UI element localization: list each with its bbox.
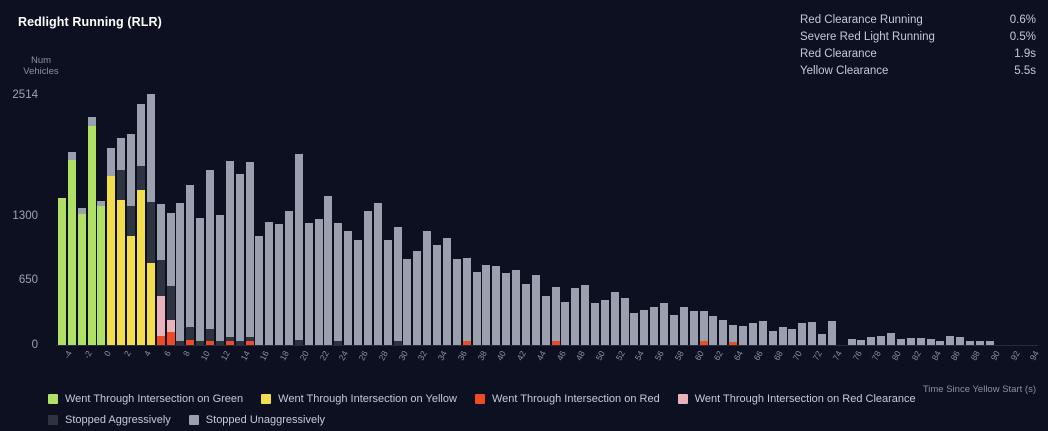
bar-column[interactable] [265, 222, 273, 345]
legend-item-red_clearance[interactable]: Went Through Intersection on Red Clearan… [678, 393, 916, 405]
bar-column[interactable] [512, 270, 520, 345]
bar-column[interactable] [611, 292, 619, 345]
x-axis-tick-label: 76 [850, 349, 863, 362]
x-axis-tick-label: 16 [258, 349, 271, 362]
x-axis-tick-label: 4 [142, 349, 153, 358]
bar-segment [759, 321, 767, 345]
x-axis-tick-label: 26 [357, 349, 370, 362]
bar-segment [354, 240, 362, 345]
bar-segment [403, 259, 411, 345]
bar-segment [176, 203, 184, 341]
bar-column[interactable] [305, 223, 313, 345]
legend-row-primary: Went Through Intersection on GreenWent T… [48, 388, 938, 409]
bar-column[interactable] [522, 284, 530, 345]
bar-column[interactable] [700, 311, 708, 345]
bar-column[interactable] [344, 231, 352, 345]
bar-segment [956, 337, 964, 345]
bar-column[interactable] [640, 310, 648, 345]
bar-segment [334, 223, 342, 340]
legend-item-stopped_unagg[interactable]: Stopped Unaggressively [189, 414, 325, 426]
bar-segment [552, 287, 560, 341]
bar-column[interactable] [196, 218, 204, 345]
bar-column[interactable] [581, 285, 589, 345]
chart-legend: Went Through Intersection on GreenWent T… [48, 388, 938, 430]
x-axis-tick-label: 0 [102, 349, 113, 358]
bar-segment [167, 320, 175, 332]
bar-segment [255, 236, 263, 345]
bar-segment [739, 326, 747, 345]
legend-swatch-icon [48, 394, 58, 404]
bar-segment [117, 138, 125, 170]
bar-segment [601, 300, 609, 345]
bar-column[interactable] [275, 224, 283, 345]
bar-segment [473, 272, 481, 345]
bar-column[interactable] [779, 327, 787, 345]
bar-column[interactable] [473, 272, 481, 345]
bar-segment [749, 323, 757, 345]
bar-segment [265, 222, 273, 345]
bar-segment [492, 266, 500, 345]
bar-column[interactable] [907, 338, 915, 345]
x-axis-tick-label: 22 [317, 349, 330, 362]
x-axis-tick-label: 18 [278, 349, 291, 362]
x-axis-tick-label: 70 [791, 349, 804, 362]
bar-segment [186, 185, 194, 327]
bar-segment [305, 223, 313, 345]
bar-column[interactable] [157, 204, 165, 345]
bar-segment [798, 323, 806, 345]
bar-segment [561, 302, 569, 345]
bar-column[interactable] [186, 185, 194, 345]
bar-column[interactable] [374, 203, 382, 345]
bar-column[interactable] [788, 329, 796, 345]
legend-item-green[interactable]: Went Through Intersection on Green [48, 393, 243, 405]
bar-segment [246, 162, 254, 337]
bar-segment [384, 240, 392, 345]
x-axis-tick-label: 50 [594, 349, 607, 362]
legend-item-yellow[interactable]: Went Through Intersection on Yellow [261, 393, 457, 405]
bar-segment [788, 329, 796, 345]
x-axis-tick-label: 40 [495, 349, 508, 362]
bar-segment [157, 296, 165, 336]
bar-segment [640, 310, 648, 345]
bar-segment [127, 206, 135, 236]
bar-segment [482, 265, 490, 345]
bar-segment [324, 196, 332, 345]
x-axis-tick-label: 80 [890, 349, 903, 362]
x-axis-tick-label: 48 [574, 349, 587, 362]
bar-segment [818, 334, 826, 345]
x-axis-tick-label: 60 [692, 349, 705, 362]
legend-item-label: Went Through Intersection on Red [492, 393, 660, 405]
bar-segment [729, 325, 737, 342]
bar-column[interactable] [246, 162, 254, 345]
bar-column[interactable] [315, 219, 323, 345]
bar-segment [186, 327, 194, 340]
x-axis-tick-label: 92 [1008, 349, 1021, 362]
x-axis-tick-label: 14 [238, 349, 251, 362]
legend-swatch-icon [48, 415, 58, 425]
bar-segment [58, 198, 66, 345]
bar-column[interactable] [206, 170, 214, 345]
x-axis-tick-label: 44 [534, 349, 547, 362]
bar-column[interactable] [621, 298, 629, 345]
bar-segment [779, 327, 787, 345]
x-axis-tick-label: 36 [455, 349, 468, 362]
bar-segment [167, 213, 175, 287]
bar-segment [88, 117, 96, 126]
x-axis-tick-label: 56 [653, 349, 666, 362]
legend-item-label: Stopped Unaggressively [206, 414, 325, 426]
legend-item-stopped_agg[interactable]: Stopped Aggressively [48, 414, 171, 426]
x-axis-tick-label: 64 [732, 349, 745, 362]
x-axis-tick-label: 88 [969, 349, 982, 362]
bar-column[interactable] [216, 215, 224, 345]
x-axis-tick-label: 6 [161, 349, 172, 358]
bar-segment [216, 215, 224, 341]
bar-segment [127, 134, 135, 206]
legend-item-red[interactable]: Went Through Intersection on Red [475, 393, 660, 405]
bar-column[interactable] [542, 296, 550, 345]
bar-column[interactable] [690, 311, 698, 345]
legend-swatch-icon [261, 394, 271, 404]
legend-item-label: Stopped Aggressively [65, 414, 171, 426]
y-axis-tick-label: 650 [0, 274, 38, 286]
bar-column[interactable] [236, 174, 244, 345]
bar-segment [157, 260, 165, 296]
x-axis-tick-label: 86 [949, 349, 962, 362]
bar-column[interactable] [749, 323, 757, 345]
bar-column[interactable] [591, 303, 599, 345]
bar-segment [907, 338, 915, 345]
bar-column[interactable] [719, 320, 727, 345]
bar-segment [522, 284, 530, 345]
bar-column[interactable] [571, 288, 579, 345]
y-axis-tick-label: 0 [0, 339, 38, 351]
x-axis-tick-label: -2 [81, 349, 93, 360]
bar-segment [808, 322, 816, 345]
x-axis-tick-label: 32 [416, 349, 429, 362]
bar-segment [88, 126, 96, 345]
bar-segment [512, 270, 520, 345]
bar-segment [206, 170, 214, 329]
bar-column[interactable] [601, 300, 609, 345]
x-axis-tick-label: 82 [909, 349, 922, 362]
bar-column[interactable] [226, 161, 234, 345]
bar-column[interactable] [670, 315, 678, 345]
bar-segment [443, 238, 451, 345]
bar-segment [68, 152, 76, 160]
bar-segment [413, 251, 421, 345]
bar-segment [137, 190, 145, 345]
bar-segment [167, 286, 175, 320]
x-axis-tick-label: 28 [376, 349, 389, 362]
bar-segment [917, 338, 925, 345]
bar-segment [650, 307, 658, 345]
bar-column[interactable] [502, 273, 510, 345]
bar-segment [690, 311, 698, 345]
bar-segment [621, 298, 629, 345]
y-axis-tick-label: 1300 [0, 210, 38, 222]
bar-segment [364, 211, 372, 345]
bar-segment [275, 224, 283, 345]
bar-segment [226, 161, 234, 337]
bar-segment [127, 236, 135, 345]
bar-segment [374, 203, 382, 345]
bar-segment [591, 303, 599, 345]
x-axis-title: Time Since Yellow Start (s) [923, 384, 1036, 395]
bar-column[interactable] [354, 240, 362, 345]
bar-column[interactable] [828, 321, 836, 345]
bar-column[interactable] [384, 240, 392, 345]
x-axis-tick-label: 12 [218, 349, 231, 362]
bar-column[interactable] [463, 258, 471, 345]
x-axis-tick-label: 94 [1028, 349, 1041, 362]
x-axis-tick-label: 66 [751, 349, 764, 362]
bar-column[interactable] [147, 94, 155, 345]
bar-column[interactable] [887, 333, 895, 345]
bar-segment [107, 148, 115, 176]
legend-item-label: Went Through Intersection on Red Clearan… [695, 393, 916, 405]
bar-segment [887, 333, 895, 345]
bar-segment [463, 258, 471, 341]
legend-row-secondary: Stopped AggressivelyStopped Unaggressive… [48, 409, 938, 430]
bar-column[interactable] [295, 154, 303, 345]
bar-segment [877, 336, 885, 345]
bar-column[interactable] [917, 338, 925, 345]
bar-segment [670, 315, 678, 345]
x-axis-tick-label: 34 [436, 349, 449, 362]
legend-swatch-icon [678, 394, 688, 404]
bar-segment [107, 176, 115, 345]
bar-column[interactable] [680, 307, 688, 345]
bar-segment [542, 296, 550, 345]
bar-segment [433, 245, 441, 345]
x-axis-tick-label: 46 [554, 349, 567, 362]
bar-segment [630, 313, 638, 345]
bar-column[interactable] [443, 238, 451, 345]
x-axis-tick-label: 58 [672, 349, 685, 362]
x-axis-tick-label: 2 [122, 349, 133, 358]
bar-segment [147, 94, 155, 201]
bar-column[interactable] [255, 236, 263, 345]
bar-segment [571, 288, 579, 345]
bar-column[interactable] [97, 201, 105, 345]
bar-column[interactable] [88, 117, 96, 345]
bar-column[interactable] [453, 259, 461, 345]
bar-column[interactable] [324, 196, 332, 345]
x-axis-tick-label: 10 [199, 349, 212, 362]
x-axis-tick-label: 24 [337, 349, 350, 362]
bar-segment [709, 316, 717, 345]
x-axis-tick-label: 62 [712, 349, 725, 362]
bar-column[interactable] [107, 148, 115, 345]
bar-segment [581, 285, 589, 345]
bar-column[interactable] [127, 134, 135, 345]
bar-column[interactable] [58, 198, 66, 345]
bar-column[interactable] [798, 323, 806, 345]
bar-segment [137, 104, 145, 166]
y-axis-tick-label: 2514 [0, 89, 38, 101]
bar-column[interactable] [285, 211, 293, 345]
bar-column[interactable] [423, 231, 431, 345]
legend-swatch-icon [475, 394, 485, 404]
bar-column[interactable] [137, 104, 145, 345]
x-axis-tick-label: -4 [61, 349, 73, 360]
x-axis-tick-label: 52 [613, 349, 626, 362]
bar-segment [453, 259, 461, 345]
bar-column[interactable] [729, 325, 737, 345]
bar-segment [117, 200, 125, 345]
bar-segment [700, 311, 708, 341]
x-axis-tick-label: 78 [870, 349, 883, 362]
bar-segment [285, 211, 293, 345]
bar-column[interactable] [394, 227, 402, 345]
bar-segment [680, 307, 688, 345]
bar-segment [769, 331, 777, 345]
bar-segment [157, 204, 165, 260]
bar-column[interactable] [759, 321, 767, 345]
bar-segment [946, 336, 954, 345]
bar-column[interactable] [68, 152, 76, 345]
bar-segment [394, 227, 402, 340]
legend-item-label: Went Through Intersection on Green [65, 393, 243, 405]
bar-segment [315, 219, 323, 345]
bar-segment [867, 337, 875, 345]
bar-segment [532, 275, 540, 345]
bar-column[interactable] [413, 251, 421, 345]
x-axis-line [56, 345, 1038, 346]
x-axis-tick-label: 90 [988, 349, 1001, 362]
bar-segment [117, 170, 125, 200]
bar-column[interactable] [769, 331, 777, 345]
bar-segment [78, 214, 86, 345]
bar-segment [295, 154, 303, 340]
bar-segment [344, 231, 352, 345]
x-axis-tick-label: 84 [929, 349, 942, 362]
bar-column[interactable] [630, 313, 638, 345]
bar-column[interactable] [532, 275, 540, 345]
bar-column[interactable] [552, 287, 560, 345]
bar-column[interactable] [739, 326, 747, 345]
x-axis-tick-label: 68 [771, 349, 784, 362]
bar-column[interactable] [403, 259, 411, 345]
bar-column[interactable] [167, 213, 175, 345]
bar-segment [137, 166, 145, 190]
bars-layer [58, 95, 1038, 345]
bar-segment [719, 320, 727, 345]
bar-column[interactable] [561, 302, 569, 345]
legend-swatch-icon [189, 415, 199, 425]
bar-segment [236, 174, 244, 341]
x-axis-tick-label: 38 [475, 349, 488, 362]
bar-segment [147, 202, 155, 264]
bar-column[interactable] [482, 265, 490, 345]
bar-column[interactable] [709, 316, 717, 345]
bar-column[interactable] [946, 336, 954, 345]
bar-column[interactable] [117, 138, 125, 345]
bar-segment [660, 303, 668, 345]
bar-column[interactable] [492, 266, 500, 345]
bar-column[interactable] [78, 208, 86, 345]
bar-segment [502, 273, 510, 345]
bar-segment [206, 329, 214, 341]
x-axis-tick-label: 8 [181, 349, 192, 358]
bar-segment [196, 218, 204, 340]
bar-segment [828, 321, 836, 345]
bar-column[interactable] [867, 337, 875, 345]
x-axis-tick-label: 30 [396, 349, 409, 362]
bar-column[interactable] [956, 337, 964, 345]
bar-column[interactable] [176, 203, 184, 345]
bar-segment [147, 263, 155, 345]
bar-column[interactable] [877, 336, 885, 345]
bar-column[interactable] [650, 307, 658, 345]
x-axis-tick-label: 42 [515, 349, 528, 362]
bar-segment [157, 336, 165, 345]
x-axis-tick-label: 74 [830, 349, 843, 362]
bar-segment [611, 292, 619, 345]
x-axis-tick-label: 54 [633, 349, 646, 362]
bar-column[interactable] [818, 334, 826, 345]
bar-segment [423, 231, 431, 345]
bar-column[interactable] [808, 322, 816, 345]
bar-column[interactable] [364, 211, 372, 345]
bar-segment [68, 160, 76, 345]
x-axis-tick-label: 20 [297, 349, 310, 362]
bar-segment [97, 206, 105, 345]
x-axis-tick-label: 72 [811, 349, 824, 362]
chart-plot-area: 065013002514 -4-202468101214161820222426… [0, 0, 1048, 431]
bar-column[interactable] [433, 245, 441, 345]
bar-segment [167, 332, 175, 345]
bar-column[interactable] [660, 303, 668, 345]
legend-item-label: Went Through Intersection on Yellow [278, 393, 457, 405]
bar-column[interactable] [334, 223, 342, 345]
